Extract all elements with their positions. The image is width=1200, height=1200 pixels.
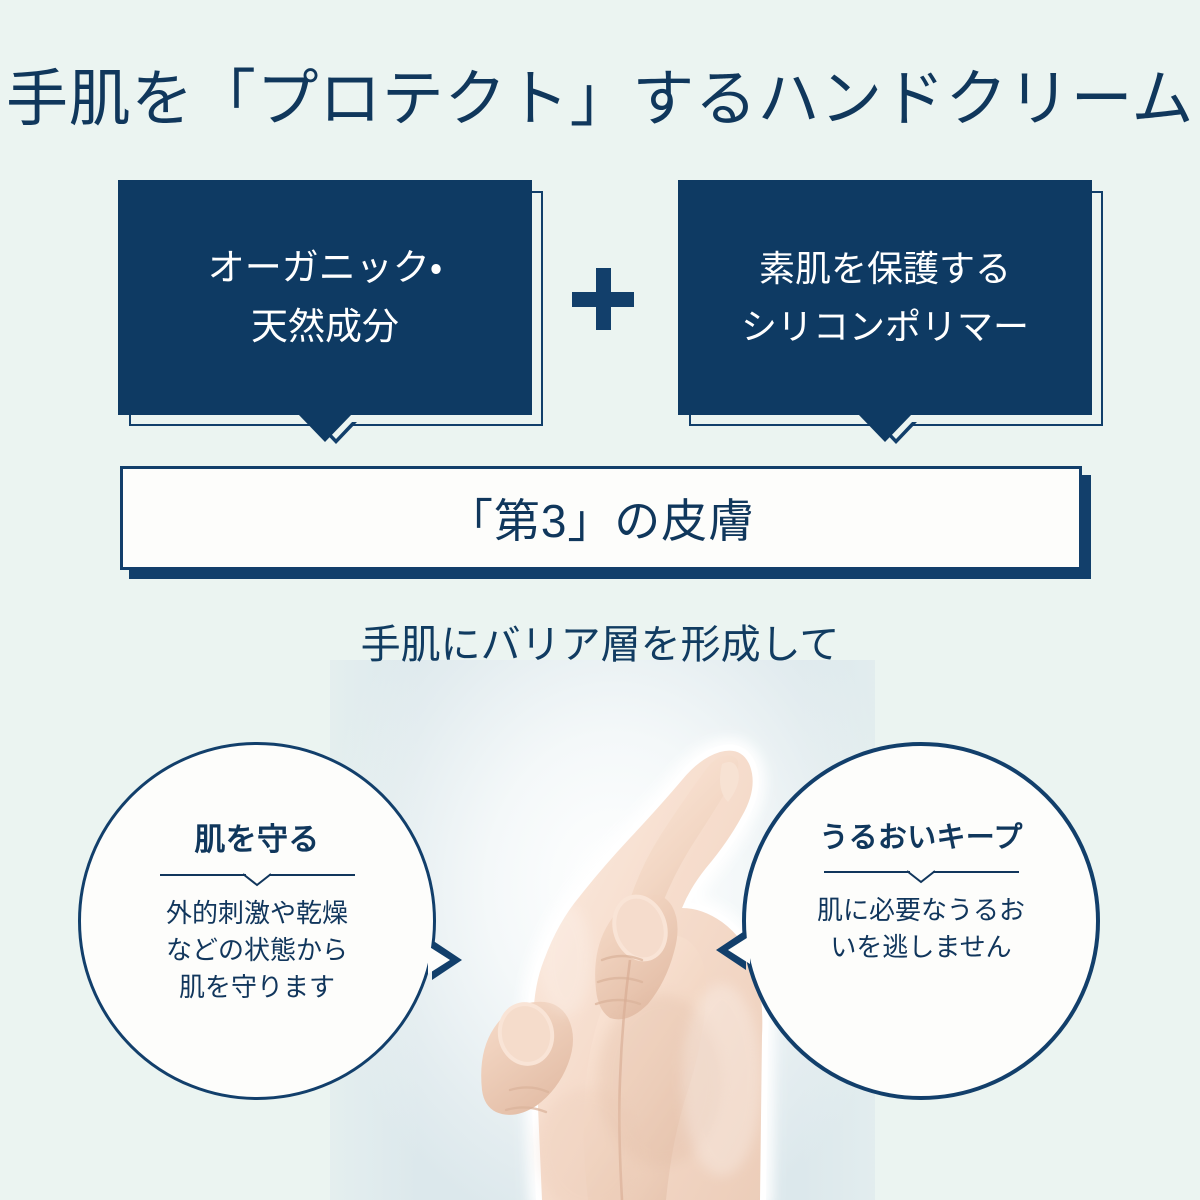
- balloon-body-line: 肌を守ります: [166, 969, 348, 1006]
- box-fill-tail: [298, 414, 352, 442]
- balloon-content: 肌を守る 外的刺激や乾燥 などの状態から 肌を守ります: [78, 742, 436, 1100]
- ingredient-box-text: 素肌を保護する シリコンポリマー: [678, 180, 1092, 415]
- balloon-body-line: などの状態から: [166, 932, 348, 969]
- balloon-body: 外的刺激や乾燥 などの状態から 肌を守ります: [166, 895, 348, 1006]
- balloon-body-line: いを逃しません: [817, 929, 1025, 966]
- ingredient-line-1: オーガニック・: [208, 247, 443, 290]
- divider-notch-icon: [243, 871, 271, 887]
- balloon-body-line: 肌に必要なうるお: [817, 892, 1025, 929]
- banner-plate: 「第3」の皮膚: [120, 466, 1082, 570]
- ingredient-line-1: 素肌を保護する: [759, 248, 1011, 289]
- ingredient-box-text: オーガニック・ 天然成分: [118, 180, 532, 415]
- plus-icon: [572, 268, 634, 330]
- ingredient-box-organic: オーガニック・ 天然成分: [118, 180, 532, 415]
- sub-caption: 手肌にバリア層を形成して: [0, 612, 1200, 670]
- balloon-tail: [432, 940, 462, 980]
- balloon-title: 肌を守る: [194, 814, 319, 859]
- banner-label: 「第3」の皮膚: [447, 485, 755, 551]
- balloon-divider: [160, 871, 355, 887]
- benefit-balloon-moisture: うるおいキープ 肌に必要なうるお いを逃しません: [742, 742, 1100, 1100]
- divider-notch-icon: [907, 868, 935, 884]
- result-banner: 「第3」の皮膚: [120, 466, 1082, 570]
- balloon-body-line: 外的刺激や乾燥: [166, 895, 348, 932]
- benefit-balloon-protect: 肌を守る 外的刺激や乾燥 などの状態から 肌を守ります: [78, 742, 436, 1100]
- ingredient-box-silicone: 素肌を保護する シリコンポリマー: [678, 180, 1092, 415]
- balloon-divider: [824, 868, 1019, 884]
- balloon-content: うるおいキープ 肌に必要なうるお いを逃しません: [742, 742, 1100, 1100]
- balloon-title: うるおいキープ: [819, 814, 1022, 856]
- ingredient-line-2: シリコンポリマー: [741, 306, 1029, 347]
- product-benefit-poster: 手肌を「プロテクト」するハンドクリーム オーガニック・ 天然成分 素肌を保護する…: [0, 0, 1200, 1200]
- box-fill-tail: [858, 414, 912, 442]
- balloon-body: 肌に必要なうるお いを逃しません: [817, 892, 1025, 966]
- ingredient-line-2: 天然成分: [251, 306, 399, 349]
- page-title: 手肌を「プロテクト」するハンドクリーム: [0, 66, 1200, 134]
